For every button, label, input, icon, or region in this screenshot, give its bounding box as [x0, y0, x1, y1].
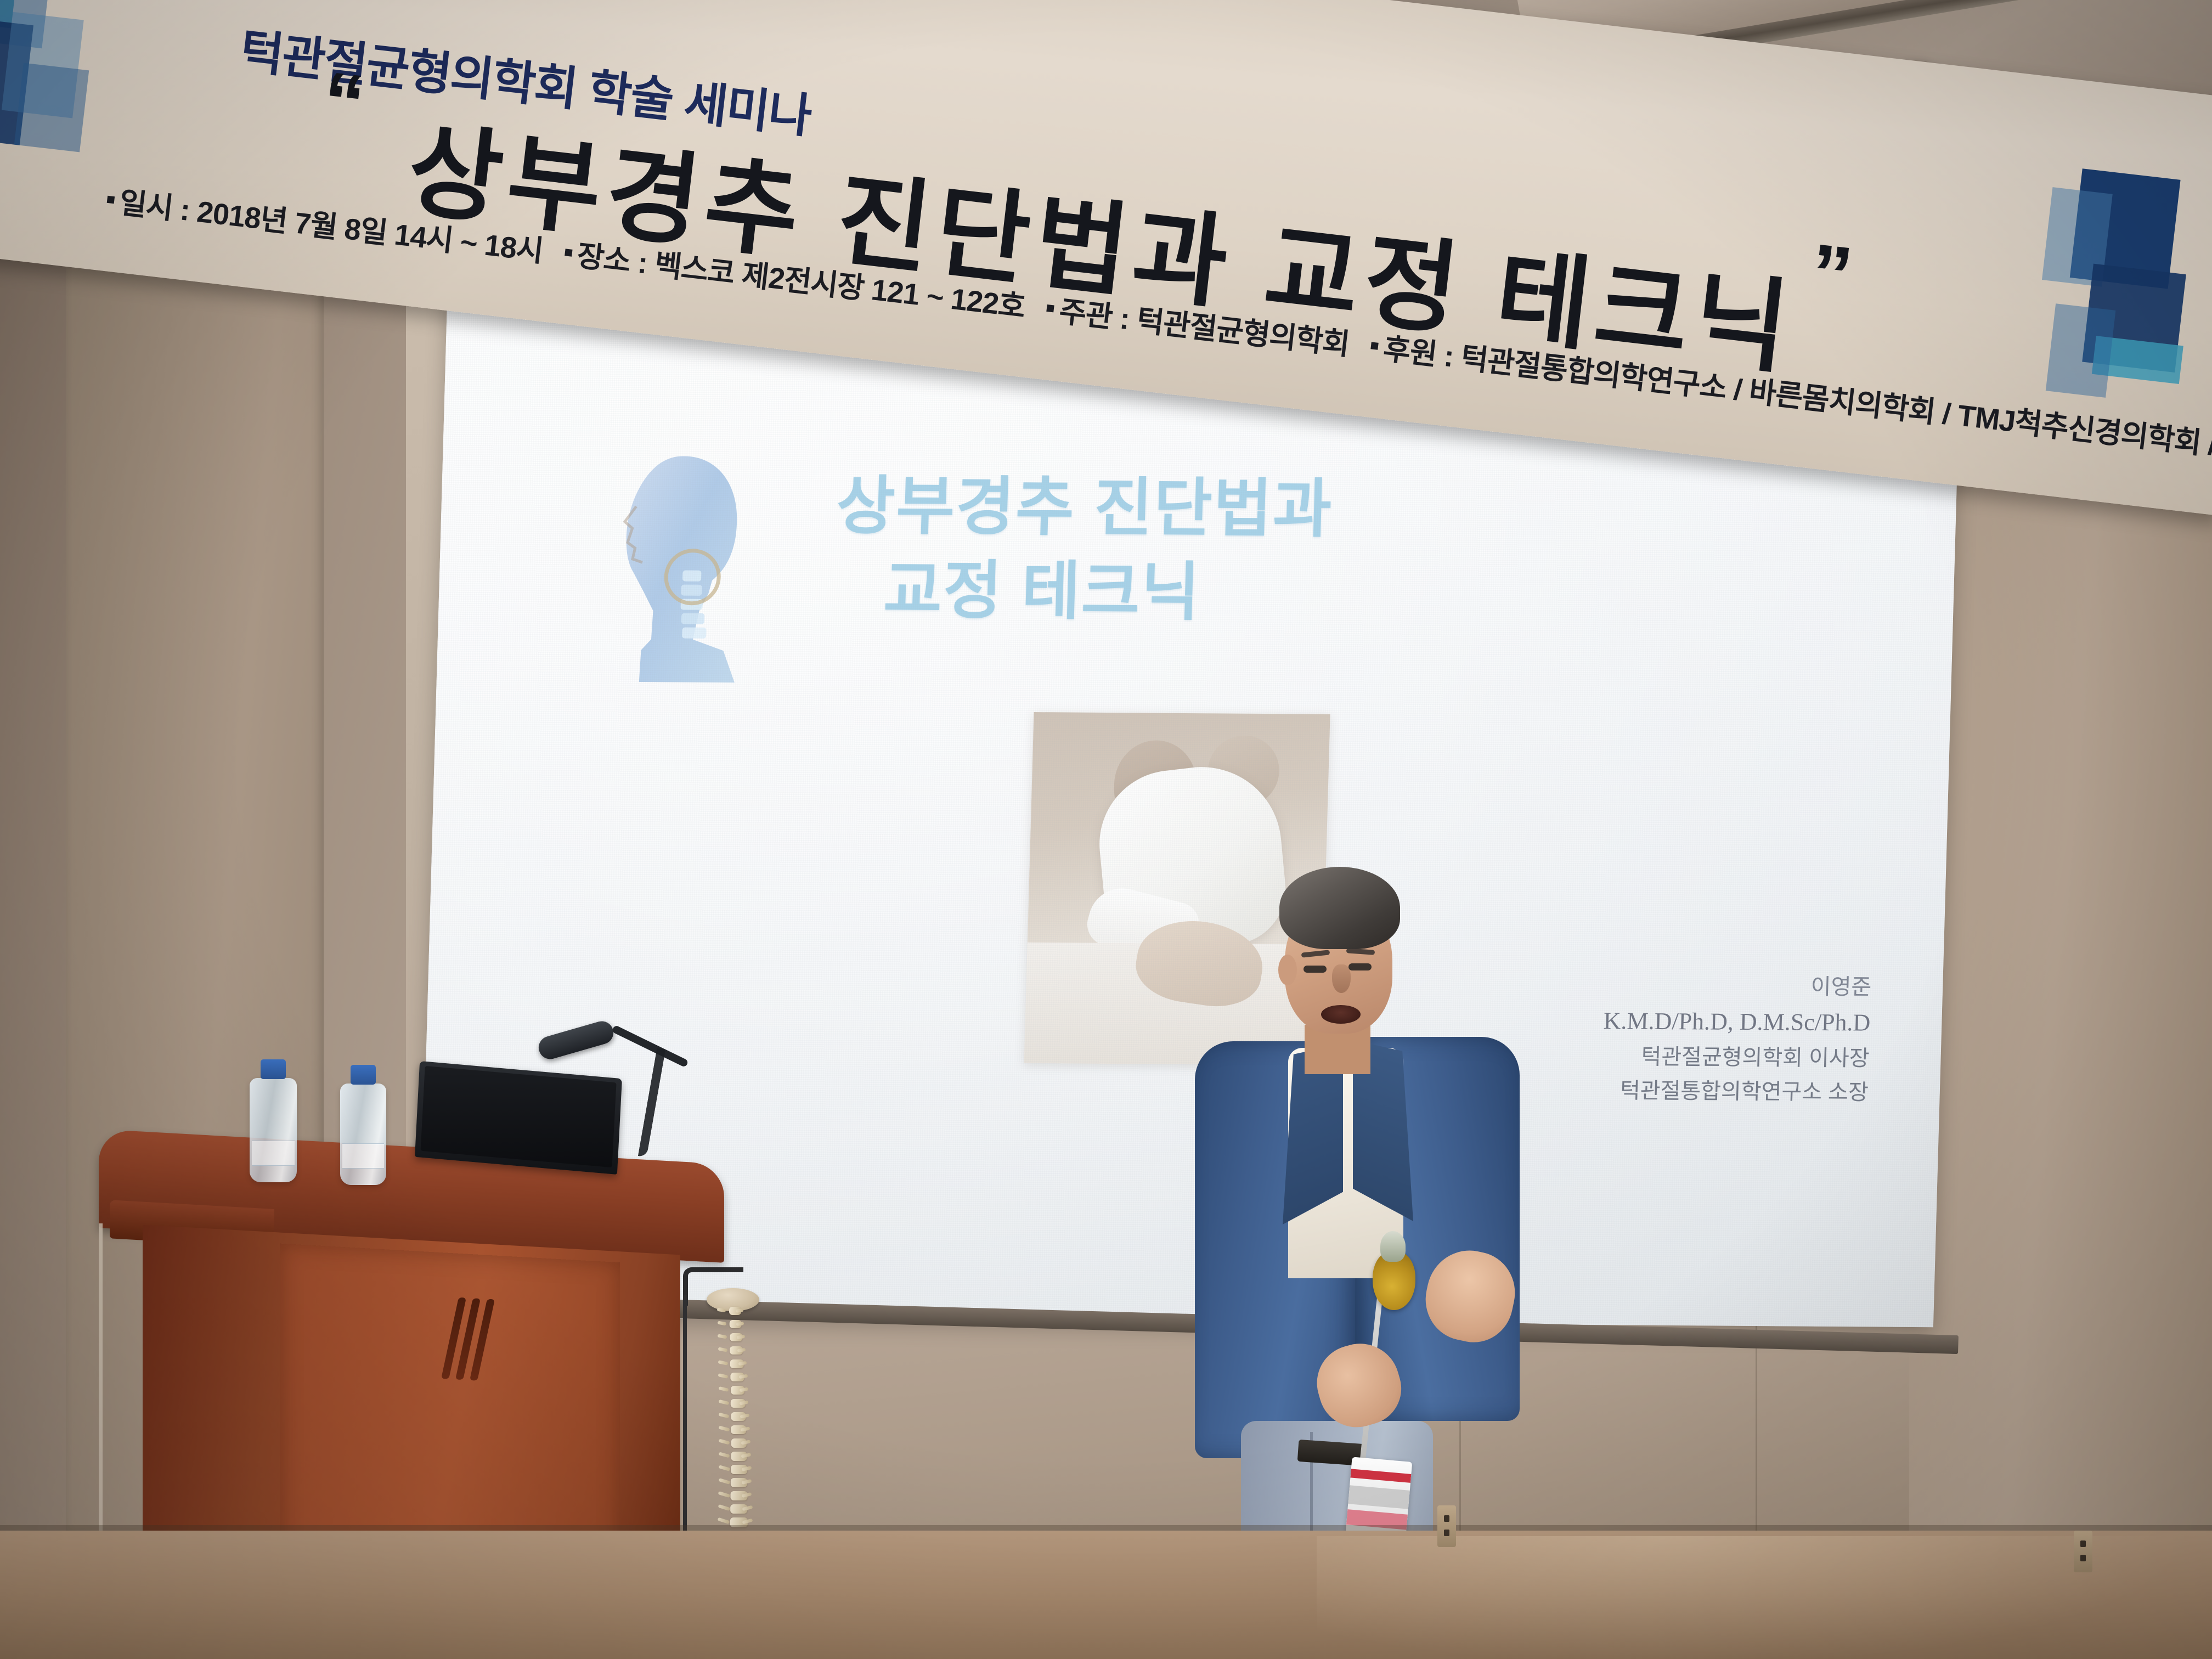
bottle-cap	[261, 1059, 286, 1079]
conference-hall-photo: 상부경추 진단법과 교정 테크닉 이영준 K.M.D/Ph.D, D.M.Sc/…	[0, 0, 2212, 1659]
mouth	[1321, 1005, 1361, 1024]
presenter-role-1: 턱관절균형의학회 이사장	[1602, 1040, 1870, 1075]
slide-title-line2: 교정 테크닉	[833, 548, 1331, 635]
spinous-process	[736, 1308, 744, 1313]
presenter-credit-block: 이영준 K.M.D/Ph.D, D.M.Sc/Ph.D 턱관절균형의학회 이사장…	[1601, 968, 1872, 1109]
presenter-role-2: 턱관절통합의학연구소 소장	[1601, 1074, 1869, 1109]
meta-sponsor-label: 후원 :	[1381, 332, 1455, 373]
nose	[1332, 964, 1351, 993]
quote-open-mark: “	[320, 71, 368, 133]
eyebrow-right	[1346, 948, 1375, 955]
slide-title-line1: 상부경추 진단법과	[836, 470, 1334, 545]
water-bottle	[340, 1084, 386, 1185]
spinous-process	[737, 1348, 746, 1352]
presenter-degrees: K.M.D/Ph.D, D.M.Sc/Ph.D	[1603, 1002, 1871, 1042]
wall-socket	[2074, 1531, 2092, 1572]
eye-left	[1304, 966, 1327, 973]
slide-title: 상부경추 진단법과 교정 테크닉	[833, 464, 1334, 635]
spinous-process	[736, 1322, 744, 1326]
bottle-label	[342, 1143, 384, 1169]
spinous-process	[737, 1335, 745, 1339]
eyebrow-left	[1301, 950, 1330, 957]
bottle-label	[252, 1141, 295, 1166]
ear	[1278, 955, 1297, 985]
water-bottle	[250, 1078, 297, 1182]
meta-host-label: 주관 :	[1057, 295, 1131, 336]
wall-socket	[1437, 1505, 1456, 1547]
floor-light-reflection	[1317, 1536, 2194, 1659]
gold-corsage	[1373, 1251, 1415, 1310]
meta-place-label: 장소 :	[575, 239, 649, 280]
laptop-screen	[421, 1066, 617, 1167]
lectern-emblem	[450, 1297, 488, 1387]
presenter-name: 이영준	[1604, 968, 1872, 1004]
eye-right	[1348, 963, 1372, 970]
banner-decoration-left	[0, 0, 154, 174]
cervical-spine-head-icon	[610, 446, 753, 689]
spinous-process	[738, 1374, 747, 1379]
meta-date-label: 일시 :	[117, 187, 191, 227]
bottle-cap	[351, 1065, 376, 1085]
quote-close-mark: ”	[1808, 244, 1855, 306]
presenter-laptop[interactable]	[415, 1061, 622, 1175]
banner-decoration-right	[2023, 165, 2212, 420]
hair	[1279, 867, 1400, 949]
spinous-process	[738, 1361, 747, 1365]
